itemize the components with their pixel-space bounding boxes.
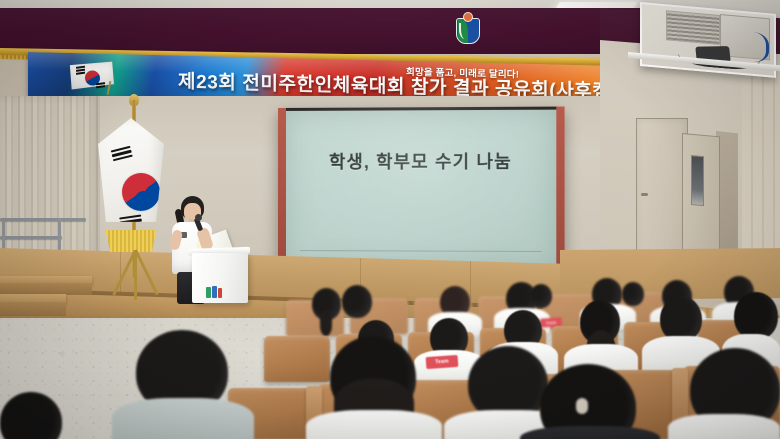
upper-wall-maroon xyxy=(0,8,640,54)
podium-item-marker-green xyxy=(206,287,211,298)
trigram-top-left xyxy=(111,146,134,164)
attendee-head-far-2 xyxy=(342,285,372,318)
stage-step-lower-face xyxy=(0,302,66,316)
cable-blue xyxy=(730,30,769,63)
projection-screen: 학생, 학부모 수기 나눔 xyxy=(278,107,565,275)
door-closed[interactable] xyxy=(636,118,688,266)
attendee-shoulders-near-2 xyxy=(306,410,442,439)
trigram-bottom xyxy=(119,215,143,231)
attendee-shoulders-near-4 xyxy=(520,426,660,439)
school-emblem-icon xyxy=(456,12,478,42)
attendee-ponytail-far-1 xyxy=(320,310,332,336)
attendee-head-far-9 xyxy=(622,282,644,306)
attendee-head-mid-5 xyxy=(734,292,778,340)
flag-gold-fringe xyxy=(102,230,160,252)
attendee-shoulders-near-1 xyxy=(112,398,254,439)
flag-tripod-base xyxy=(106,250,166,302)
attendee-shoulders-near-5 xyxy=(668,414,780,439)
attendee-head-far-8 xyxy=(530,284,552,308)
door-window-icon xyxy=(691,155,704,206)
slide-surface: 학생, 학부모 수기 나눔 xyxy=(286,110,556,269)
taeguk-symbol-icon xyxy=(122,173,160,211)
attendee-hairtie-near-4 xyxy=(576,398,588,414)
podium-item-marker-red xyxy=(218,288,222,298)
microphone-head-icon xyxy=(195,214,202,221)
screen-edge-left xyxy=(278,108,286,273)
attendee-bib-mid-1: Team xyxy=(426,355,459,369)
door-handle[interactable] xyxy=(641,193,648,196)
taegukgi-flag-icon xyxy=(98,118,164,236)
podium-item-bottle xyxy=(223,285,228,298)
auditorium-photo: 희망을 품고, 미래로 달리다! 제23회 전미주한인체육대회 참가 결과 공유… xyxy=(0,0,780,439)
podium-item-marker-blue xyxy=(212,286,217,298)
slide-divider xyxy=(300,250,542,252)
slide-title: 학생, 학부모 수기 나눔 xyxy=(286,148,556,174)
seat-mid-1[interactable] xyxy=(264,336,330,382)
